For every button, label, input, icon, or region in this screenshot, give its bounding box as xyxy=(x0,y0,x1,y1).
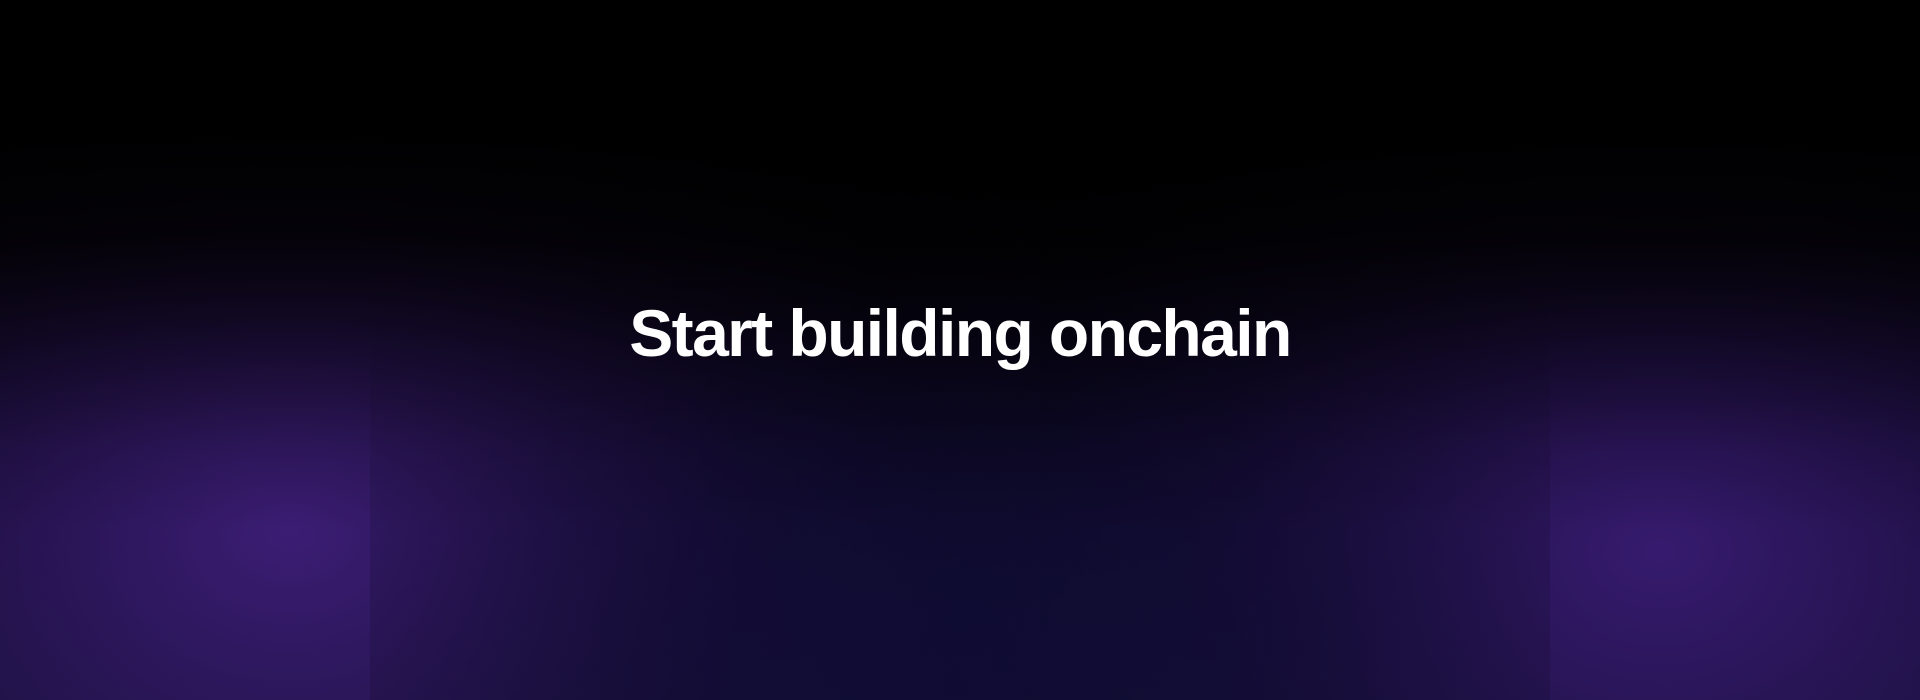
hero-banner: Start building onchain xyxy=(0,0,1920,700)
hero-heading: Start building onchain xyxy=(0,298,1920,369)
hero-content: Start building onchain xyxy=(0,298,1920,369)
